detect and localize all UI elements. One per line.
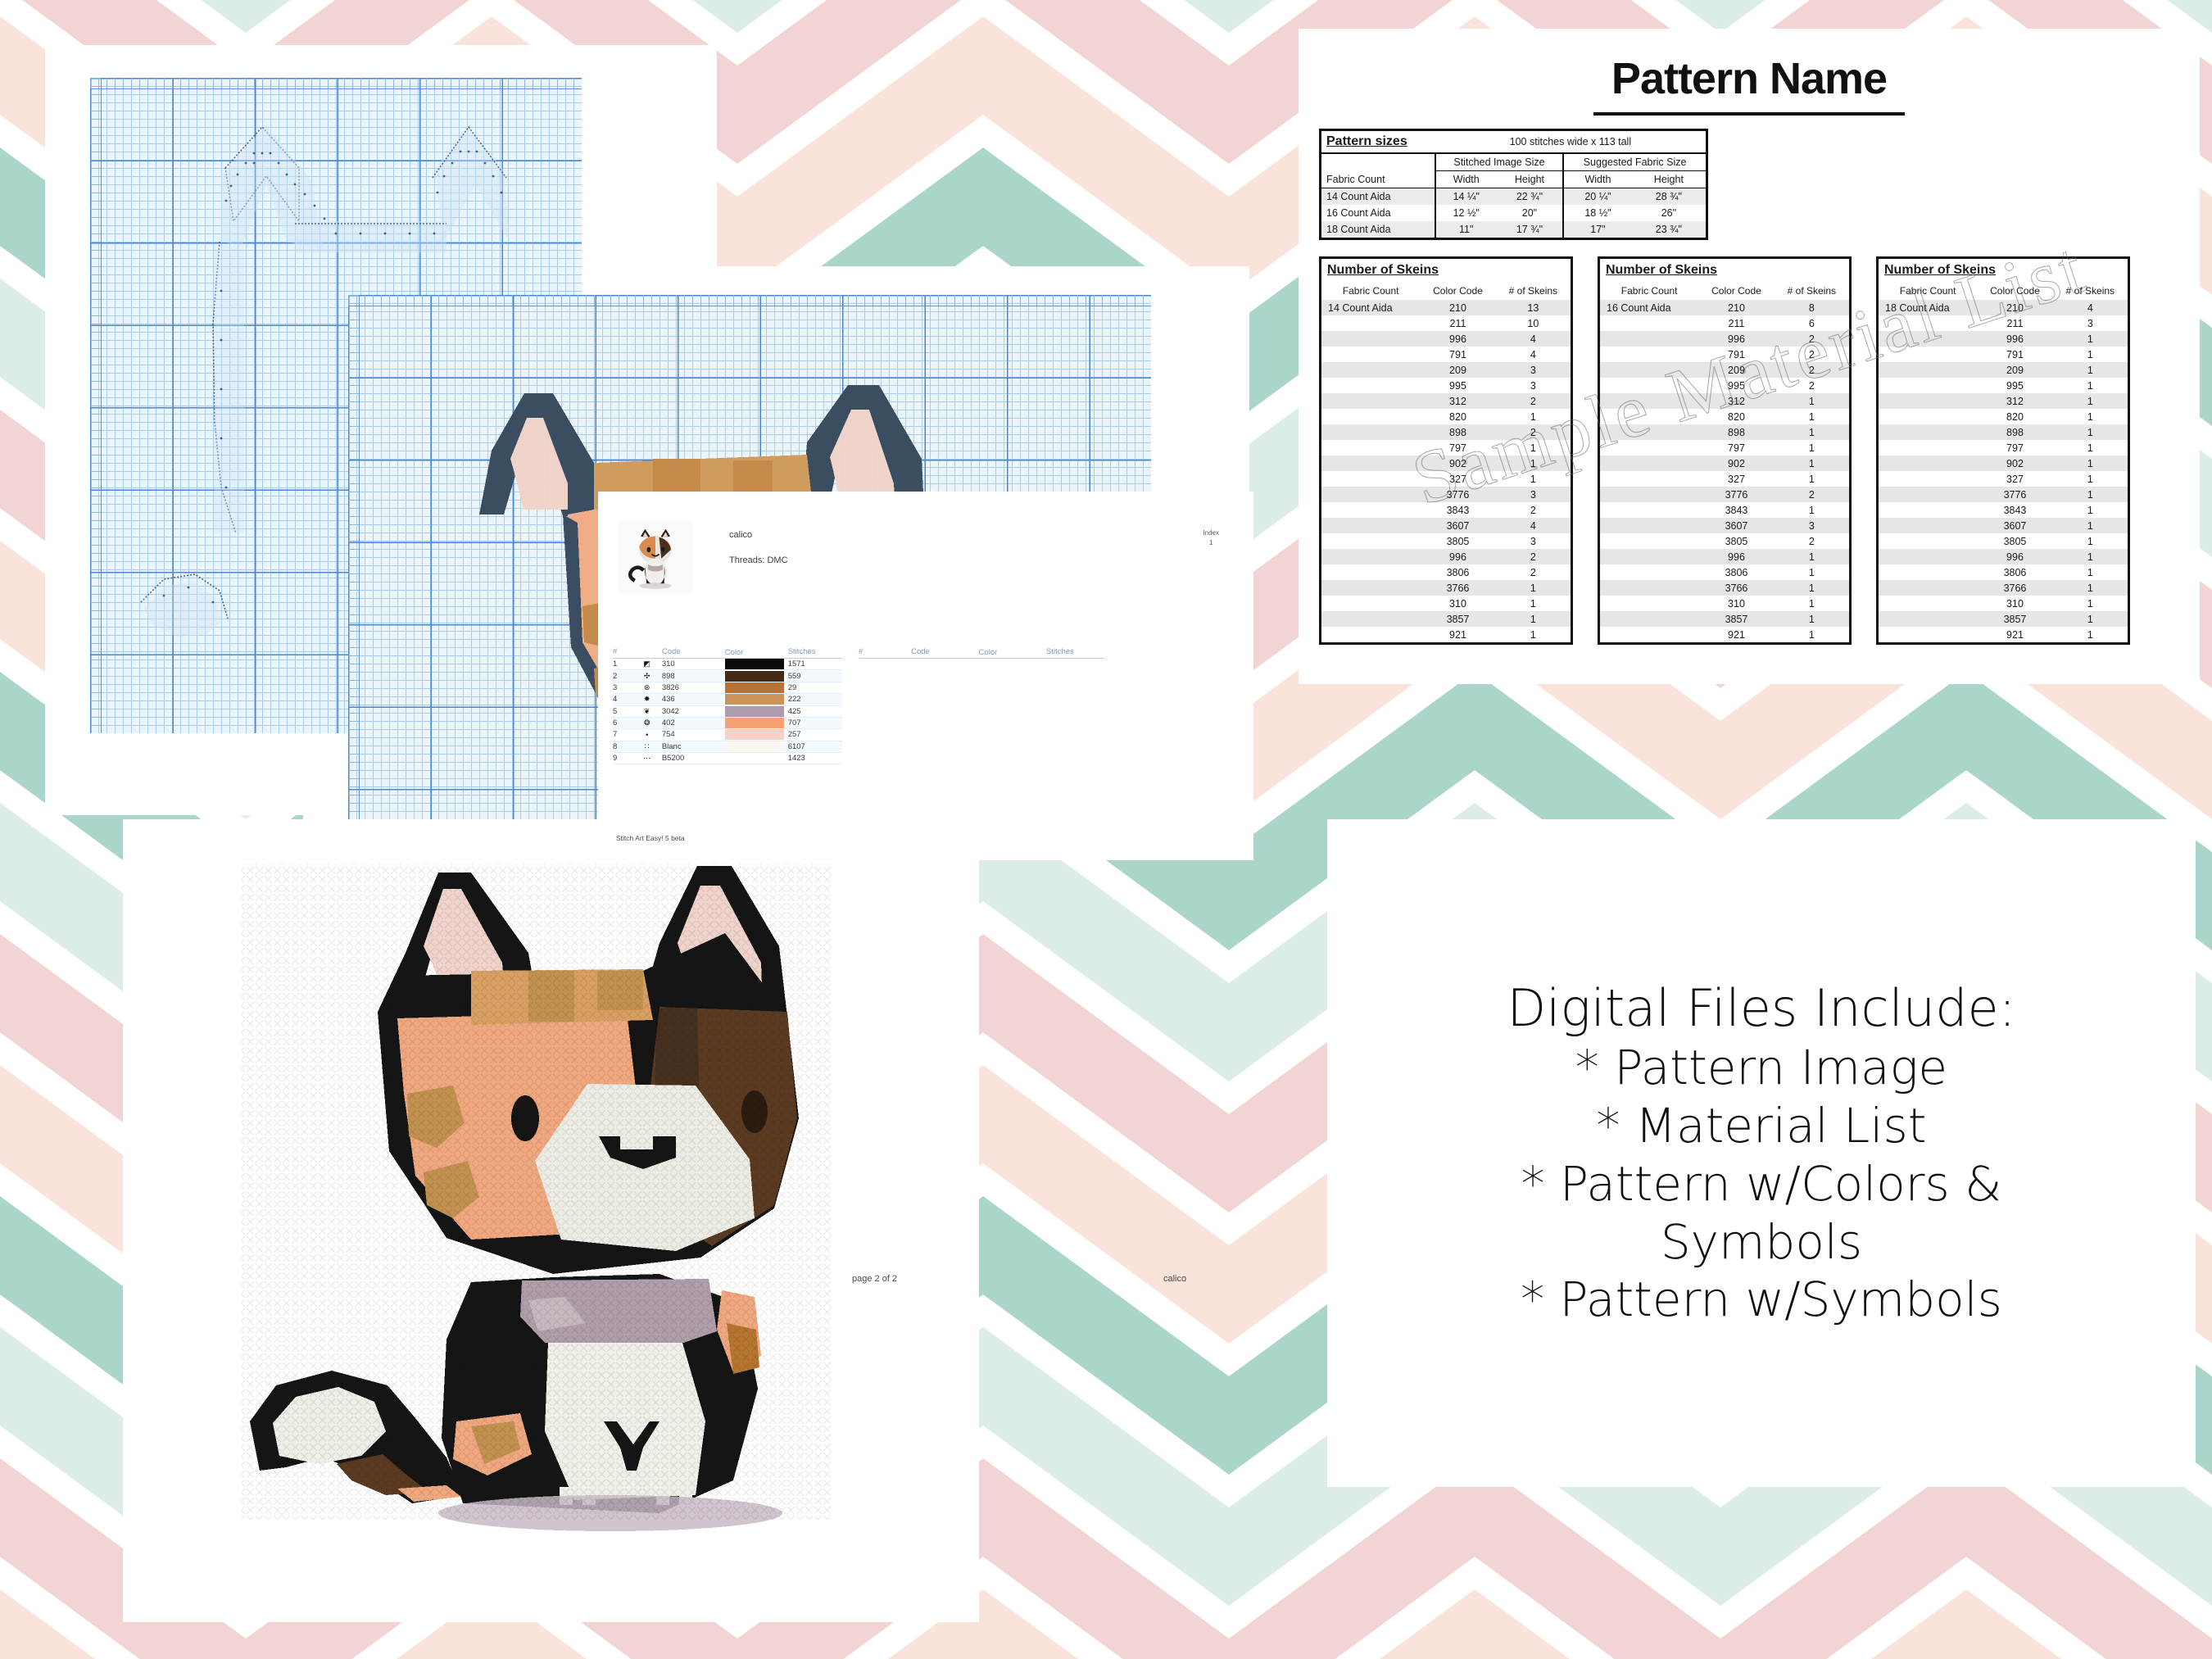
skein-count: 1 bbox=[2053, 440, 2129, 456]
skein-row: 8201 bbox=[1599, 409, 1851, 424]
skein-fabric-count bbox=[1321, 409, 1421, 424]
legend-row-stitches: 425 bbox=[788, 705, 842, 717]
software-footer: Stitch Art Easy! 5 beta bbox=[616, 834, 685, 842]
thread-legend-table: # Code Color Stitches 1◩31015712✣8985593… bbox=[613, 647, 842, 764]
skein-count: 1 bbox=[2053, 627, 2129, 644]
ps-fabric-h: 23 ¾" bbox=[1632, 221, 1707, 239]
legend-row: 6❂402707 bbox=[613, 717, 842, 728]
skein-color-code: 3806 bbox=[1420, 564, 1496, 580]
skein-count: 2 bbox=[1496, 502, 1572, 518]
skein-row: 3101 bbox=[1878, 596, 2129, 611]
skein-row: 38432 bbox=[1321, 502, 1572, 518]
skein-fabric-count bbox=[1599, 518, 1699, 533]
skein-fabric-count bbox=[1599, 471, 1699, 487]
legend-row-color-swatch bbox=[725, 694, 788, 705]
skein-row: 7971 bbox=[1321, 440, 1572, 456]
skein-row: 7971 bbox=[1878, 440, 2129, 456]
skein-row: 9951 bbox=[1878, 378, 2129, 393]
col-stitched-width: Width bbox=[1435, 171, 1497, 188]
skein-color-code: 3607 bbox=[1698, 518, 1775, 533]
skein-row: 37661 bbox=[1878, 580, 2129, 596]
legend-row-symbol-icon: ◩ bbox=[632, 659, 662, 670]
legend-index-value: 1 bbox=[1203, 538, 1219, 548]
skein-fabric-count: 16 Count Aida bbox=[1599, 300, 1699, 315]
skein-14-col-fabric: Fabric Count bbox=[1321, 282, 1421, 300]
skein-fabric-count bbox=[1599, 456, 1699, 471]
skein-color-code: 312 bbox=[1698, 393, 1775, 409]
legend-col-num: # bbox=[613, 647, 632, 659]
skein-count: 1 bbox=[2053, 596, 2129, 611]
skein-fabric-count bbox=[1878, 580, 1978, 596]
legend-row-symbol-icon: ∷ bbox=[632, 741, 662, 752]
col-fabric-height: Height bbox=[1632, 171, 1707, 188]
skein-row: 9021 bbox=[1878, 456, 2129, 471]
skein-row: 9021 bbox=[1599, 456, 1851, 471]
skein-fabric-count bbox=[1321, 315, 1421, 331]
skein-fabric-count bbox=[1878, 611, 1978, 627]
skein-count: 1 bbox=[2053, 424, 2129, 440]
skein-count: 2 bbox=[1775, 533, 1851, 549]
skein-count: 1 bbox=[1496, 627, 1572, 644]
legend-row: 7•754257 bbox=[613, 729, 842, 741]
skein-fabric-count bbox=[1878, 331, 1978, 347]
skein-row: 38061 bbox=[1599, 564, 1851, 580]
skein-count: 2 bbox=[1775, 378, 1851, 393]
skein-14-heading: Number of Skeins bbox=[1321, 258, 1572, 283]
legend-row-num: 8 bbox=[613, 741, 632, 752]
legend-row-code: B5200 bbox=[662, 753, 725, 764]
skein-color-code: 3857 bbox=[1420, 611, 1496, 627]
skein-row: 38052 bbox=[1599, 533, 1851, 549]
skein-row: 9961 bbox=[1878, 549, 2129, 564]
skein-fabric-count bbox=[1321, 502, 1421, 518]
skein-row: 16 Count Aida2108 bbox=[1599, 300, 1851, 315]
skein-row: 7912 bbox=[1599, 347, 1851, 362]
skein-count: 1 bbox=[2053, 580, 2129, 596]
thread-legend-page: calico Threads: DMC Index 1 # Code Color… bbox=[598, 492, 1253, 860]
ps-fabric-h: 26" bbox=[1632, 205, 1707, 221]
skein-fabric-count bbox=[1321, 378, 1421, 393]
skein-fabric-count bbox=[1878, 456, 1978, 471]
legend-row: 3⊛382629 bbox=[613, 682, 842, 693]
skein-color-code: 210 bbox=[1698, 300, 1775, 315]
skein-fabric-count bbox=[1599, 549, 1699, 564]
skein-count: 1 bbox=[2053, 331, 2129, 347]
legend-row-color-swatch bbox=[725, 705, 788, 717]
legend-row-stitches: 1423 bbox=[788, 753, 842, 764]
skein-fabric-count bbox=[1321, 440, 1421, 456]
skein-color-code: 996 bbox=[1698, 549, 1775, 564]
pattern-sizes-table: Pattern sizes 100 stitches wide x 113 ta… bbox=[1319, 129, 1708, 240]
legend-row-code: 898 bbox=[662, 670, 725, 682]
legend-row-color-swatch bbox=[725, 682, 788, 693]
skein-color-code: 209 bbox=[1977, 362, 2053, 378]
ps-fabric-w: 20 ¼" bbox=[1563, 188, 1632, 206]
ps-fabric: 16 Count Aida bbox=[1321, 205, 1435, 221]
skein-fabric-count bbox=[1878, 347, 1978, 362]
legend-row: 5❦3042425 bbox=[613, 705, 842, 717]
legend-row-color-swatch bbox=[725, 729, 788, 741]
skein-color-code: 3805 bbox=[1698, 533, 1775, 549]
skein-fabric-count bbox=[1599, 393, 1699, 409]
digital-files-item-0: * Pattern Image bbox=[1575, 1039, 1947, 1097]
skein-count: 6 bbox=[1775, 315, 1851, 331]
skein-count: 8 bbox=[1775, 300, 1851, 315]
skein-color-code: 898 bbox=[1420, 424, 1496, 440]
skein-row: 8982 bbox=[1321, 424, 1572, 440]
skein-row: 7911 bbox=[1878, 347, 2129, 362]
skein-color-code: 996 bbox=[1977, 549, 2053, 564]
skein-count: 1 bbox=[1496, 409, 1572, 424]
skein-color-code: 3843 bbox=[1977, 502, 2053, 518]
skein-fabric-count bbox=[1878, 440, 1978, 456]
legend-row-symbol-icon: ✣ bbox=[632, 670, 662, 682]
pattern-image-page bbox=[123, 819, 979, 1622]
legend-row-num: 2 bbox=[613, 670, 632, 682]
skein-count: 1 bbox=[2053, 549, 2129, 564]
skein-color-code: 3776 bbox=[1977, 487, 2053, 502]
ps-fabric-h: 28 ¾" bbox=[1632, 188, 1707, 206]
skein-row: 7914 bbox=[1321, 347, 1572, 362]
skein-color-code: 3857 bbox=[1977, 611, 2053, 627]
skein-16-col-fabric: Fabric Count bbox=[1599, 282, 1699, 300]
skein-count: 4 bbox=[1496, 518, 1572, 533]
skein-fabric-count bbox=[1321, 611, 1421, 627]
skein-row: 38053 bbox=[1321, 533, 1572, 549]
ps-fabric: 18 Count Aida bbox=[1321, 221, 1435, 239]
legend-row-code: 3042 bbox=[662, 705, 725, 717]
skein-count: 1 bbox=[1775, 424, 1851, 440]
legend-row: 1◩3101571 bbox=[613, 659, 842, 670]
pattern-sizes-row: 18 Count Aida11"17 ¾"17"23 ¾" bbox=[1321, 221, 1707, 239]
skein-color-code: 210 bbox=[1977, 300, 2053, 315]
skein-count: 2 bbox=[1775, 487, 1851, 502]
legend-row-num: 4 bbox=[613, 694, 632, 705]
skein-16-col-code: Color Code bbox=[1698, 282, 1775, 300]
skein-color-code: 211 bbox=[1420, 315, 1496, 331]
skein-16-col-skeins: # of Skeins bbox=[1775, 282, 1851, 300]
skein-color-code: 327 bbox=[1698, 471, 1775, 487]
skein-fabric-count bbox=[1599, 378, 1699, 393]
pattern-thumbnail bbox=[619, 520, 692, 594]
skein-fabric-count bbox=[1878, 409, 1978, 424]
skein-color-code: 3766 bbox=[1420, 580, 1496, 596]
skein-row: 3271 bbox=[1321, 471, 1572, 487]
pattern-name-footer: calico bbox=[1163, 1274, 1186, 1608]
digital-files-item-2: * Pattern w/Colors & bbox=[1521, 1155, 2002, 1213]
skein-fabric-count bbox=[1878, 596, 1978, 611]
legend-row-symbol-icon: ⋯ bbox=[632, 753, 662, 764]
ps-stitched-h: 20" bbox=[1497, 205, 1563, 221]
legend-row-color-swatch bbox=[725, 753, 788, 764]
skein-row: 38571 bbox=[1599, 611, 1851, 627]
page-title: Pattern Name bbox=[1299, 53, 2200, 104]
skein-row: 9952 bbox=[1599, 378, 1851, 393]
group-header-stitched: Stitched Image Size bbox=[1435, 153, 1563, 171]
skein-row: 3121 bbox=[1878, 393, 2129, 409]
skein-count: 1 bbox=[2053, 471, 2129, 487]
skein-color-code: 902 bbox=[1698, 456, 1775, 471]
skein-fabric-count bbox=[1599, 564, 1699, 580]
skein-fabric-count bbox=[1878, 393, 1978, 409]
skein-fabric-count bbox=[1599, 315, 1699, 331]
skein-count: 4 bbox=[1496, 331, 1572, 347]
skein-count: 3 bbox=[1496, 378, 1572, 393]
skein-fabric-count bbox=[1321, 393, 1421, 409]
skein-fabric-count bbox=[1321, 471, 1421, 487]
legend-row: 8∷Blanc6107 bbox=[613, 741, 842, 752]
skein-fabric-count bbox=[1599, 533, 1699, 549]
legend-row-stitches: 6107 bbox=[788, 741, 842, 752]
skein-color-code: 791 bbox=[1977, 347, 2053, 362]
legend-index: Index 1 bbox=[1203, 528, 1219, 548]
skein-16-heading: Number of Skeins bbox=[1599, 258, 1851, 283]
skein-count: 2 bbox=[1775, 362, 1851, 378]
ps-fabric: 14 Count Aida bbox=[1321, 188, 1435, 206]
pattern-sizes-column-row: Fabric Count Width Height Width Height bbox=[1321, 171, 1707, 188]
skein-row: 9964 bbox=[1321, 331, 1572, 347]
skein-row: 9961 bbox=[1599, 549, 1851, 564]
legend-row-code: Blanc bbox=[662, 741, 725, 752]
skein-fabric-count bbox=[1599, 502, 1699, 518]
skein-count: 10 bbox=[1496, 315, 1572, 331]
pattern-sizes-heading: Pattern sizes bbox=[1321, 130, 1435, 154]
skein-count: 1 bbox=[1775, 471, 1851, 487]
skein-fabric-count bbox=[1878, 533, 1978, 549]
skein-color-code: 797 bbox=[1977, 440, 2053, 456]
legend-row-symbol-icon: ⊛ bbox=[632, 682, 662, 693]
skein-count: 1 bbox=[1775, 409, 1851, 424]
skein-color-code: 3776 bbox=[1698, 487, 1775, 502]
skein-row: 2116 bbox=[1599, 315, 1851, 331]
legend-col-symbol bbox=[632, 647, 662, 659]
legend-row-stitches: 222 bbox=[788, 694, 842, 705]
skein-count: 13 bbox=[1496, 300, 1572, 315]
skein-count: 3 bbox=[1775, 518, 1851, 533]
ps-stitched-h: 17 ¾" bbox=[1497, 221, 1563, 239]
ps-stitched-h: 22 ¾" bbox=[1497, 188, 1563, 206]
skein-fabric-count bbox=[1878, 502, 1978, 518]
skein-color-code: 797 bbox=[1698, 440, 1775, 456]
skein-fabric-count bbox=[1321, 533, 1421, 549]
skein-color-code: 3843 bbox=[1698, 502, 1775, 518]
group-header-fabric: Suggested Fabric Size bbox=[1563, 153, 1707, 171]
skein-row: 21110 bbox=[1321, 315, 1572, 331]
skein-fabric-count bbox=[1599, 347, 1699, 362]
skein-row: 3271 bbox=[1878, 471, 2129, 487]
skein-row: 14 Count Aida21013 bbox=[1321, 300, 1572, 315]
skein-row: 9962 bbox=[1599, 331, 1851, 347]
skein-fabric-count bbox=[1321, 487, 1421, 502]
skein-color-code: 921 bbox=[1977, 627, 2053, 644]
skein-fabric-count bbox=[1321, 347, 1421, 362]
skein-row: 8201 bbox=[1878, 409, 2129, 424]
legend-row-symbol-icon: ❦ bbox=[632, 705, 662, 717]
skein-table-18-count: Number of Skeins Fabric Count Color Code… bbox=[1876, 256, 2130, 645]
skein-count: 1 bbox=[1775, 564, 1851, 580]
skein-count: 1 bbox=[1496, 611, 1572, 627]
skein-color-code: 3805 bbox=[1420, 533, 1496, 549]
col-stitched-height: Height bbox=[1497, 171, 1563, 188]
skein-row: 9961 bbox=[1878, 331, 2129, 347]
skein-color-code: 312 bbox=[1420, 393, 1496, 409]
skein-count: 1 bbox=[2053, 378, 2129, 393]
skein-count: 1 bbox=[2053, 456, 2129, 471]
skein-color-code: 310 bbox=[1698, 596, 1775, 611]
skein-row: 9211 bbox=[1321, 627, 1572, 644]
skein-color-code: 902 bbox=[1420, 456, 1496, 471]
skein-color-code: 3857 bbox=[1698, 611, 1775, 627]
legend-row-color-swatch bbox=[725, 741, 788, 752]
skein-color-code: 996 bbox=[1420, 331, 1496, 347]
skein-fabric-count bbox=[1321, 518, 1421, 533]
legend-row-num: 1 bbox=[613, 659, 632, 670]
ps-fabric-w: 18 ½" bbox=[1563, 205, 1632, 221]
pattern-sizes-dimensions: 100 stitches wide x 113 tall bbox=[1435, 130, 1707, 154]
skein-14-col-code: Color Code bbox=[1420, 282, 1496, 300]
skein-row: 2093 bbox=[1321, 362, 1572, 378]
legend-col-color: Color bbox=[725, 647, 788, 659]
skein-count: 1 bbox=[2053, 502, 2129, 518]
legend-row-stitches: 1571 bbox=[788, 659, 842, 670]
skein-fabric-count bbox=[1878, 315, 1978, 331]
skein-color-code: 995 bbox=[1977, 378, 2053, 393]
skein-fabric-count bbox=[1599, 596, 1699, 611]
skein-row: 37763 bbox=[1321, 487, 1572, 502]
skein-color-code: 3806 bbox=[1698, 564, 1775, 580]
skein-row: 9962 bbox=[1321, 549, 1572, 564]
skein-count: 2 bbox=[1496, 564, 1572, 580]
skein-color-code: 209 bbox=[1698, 362, 1775, 378]
skein-count: 2 bbox=[1496, 549, 1572, 564]
skein-color-code: 902 bbox=[1977, 456, 2053, 471]
skein-count: 3 bbox=[1496, 533, 1572, 549]
skein-color-code: 791 bbox=[1698, 347, 1775, 362]
skein-row: 36073 bbox=[1599, 518, 1851, 533]
skein-count: 2 bbox=[1775, 331, 1851, 347]
skein-fabric-count bbox=[1878, 424, 1978, 440]
skein-color-code: 820 bbox=[1698, 409, 1775, 424]
legend-row-symbol-icon: ❂ bbox=[632, 717, 662, 728]
skein-color-code: 995 bbox=[1420, 378, 1496, 393]
skein-count: 1 bbox=[1775, 627, 1851, 644]
skein-color-code: 3766 bbox=[1698, 580, 1775, 596]
skein-row: 8981 bbox=[1878, 424, 2129, 440]
skein-color-code: 898 bbox=[1698, 424, 1775, 440]
skein-row: 18 Count Aida2104 bbox=[1878, 300, 2129, 315]
skein-row: 38431 bbox=[1878, 502, 2129, 518]
legend-row-num: 6 bbox=[613, 717, 632, 728]
digital-files-item-3: Symbols bbox=[1661, 1213, 1862, 1271]
legend-row-stitches: 559 bbox=[788, 670, 842, 682]
skein-count: 1 bbox=[1775, 549, 1851, 564]
legend-row-code: 754 bbox=[662, 729, 725, 741]
skein-row: 8981 bbox=[1599, 424, 1851, 440]
skein-row: 37761 bbox=[1878, 487, 2129, 502]
ps-stitched-w: 11" bbox=[1435, 221, 1497, 239]
skein-fabric-count bbox=[1878, 549, 1978, 564]
skein-count: 1 bbox=[2053, 347, 2129, 362]
skein-count: 2 bbox=[1496, 393, 1572, 409]
skein-count: 1 bbox=[1496, 596, 1572, 611]
legend-index-label: Index bbox=[1203, 528, 1219, 538]
ps-stitched-w: 14 ¼" bbox=[1435, 188, 1497, 206]
legend-row: 9⋯B52001423 bbox=[613, 753, 842, 764]
skein-color-code: 3843 bbox=[1420, 502, 1496, 518]
skein-color-code: 921 bbox=[1420, 627, 1496, 644]
skein-count: 1 bbox=[2053, 487, 2129, 502]
ps-fabric-w: 17" bbox=[1563, 221, 1632, 239]
skein-count: 3 bbox=[1496, 362, 1572, 378]
skein-color-code: 996 bbox=[1420, 549, 1496, 564]
legend-row-symbol-icon: ✸ bbox=[632, 694, 662, 705]
col-fabric-count: Fabric Count bbox=[1321, 171, 1435, 188]
legend-row-stitches: 29 bbox=[788, 682, 842, 693]
skein-row: 36074 bbox=[1321, 518, 1572, 533]
legend-row-stitches: 257 bbox=[788, 729, 842, 741]
digital-files-list: Digital Files Include: * Pattern Image *… bbox=[1327, 819, 2196, 1487]
skein-fabric-count bbox=[1599, 409, 1699, 424]
skein-color-code: 996 bbox=[1977, 331, 2053, 347]
skein-color-code: 327 bbox=[1977, 471, 2053, 487]
skein-color-code: 310 bbox=[1420, 596, 1496, 611]
skein-fabric-count bbox=[1321, 627, 1421, 644]
legend-header-row-2: # Code Color Stitches bbox=[859, 647, 1104, 659]
skein-18-col-skeins: # of Skeins bbox=[2053, 282, 2129, 300]
skein-color-code: 310 bbox=[1977, 596, 2053, 611]
skein-fabric-count bbox=[1321, 580, 1421, 596]
pattern-sizes-row: 16 Count Aida12 ½"20"18 ½"26" bbox=[1321, 205, 1707, 221]
skein-count: 1 bbox=[1775, 596, 1851, 611]
skein-count: 1 bbox=[1775, 580, 1851, 596]
legend-row: 4✸436222 bbox=[613, 694, 842, 705]
thread-legend-table-secondary: # Code Color Stitches bbox=[859, 647, 1104, 659]
skein-color-code: 898 bbox=[1977, 424, 2053, 440]
legend2-col-num: # bbox=[859, 647, 879, 659]
skein-color-code: 312 bbox=[1977, 393, 2053, 409]
skein-fabric-count bbox=[1878, 518, 1978, 533]
legend-row-color-swatch bbox=[725, 670, 788, 682]
skein-fabric-count bbox=[1599, 611, 1699, 627]
skein-fabric-count bbox=[1878, 564, 1978, 580]
skein-count: 1 bbox=[2053, 393, 2129, 409]
skein-count: 1 bbox=[2053, 611, 2129, 627]
skein-fabric-count: 18 Count Aida bbox=[1878, 300, 1978, 315]
skein-fabric-count bbox=[1321, 362, 1421, 378]
material-list-content: Pattern Name Pattern sizes 100 stitches … bbox=[1299, 29, 2200, 684]
skein-color-code: 995 bbox=[1698, 378, 1775, 393]
pattern-sizes-group-row: Stitched Image Size Suggested Fabric Siz… bbox=[1321, 153, 1707, 171]
skein-count: 1 bbox=[2053, 533, 2129, 549]
skein-row: 38431 bbox=[1599, 502, 1851, 518]
skein-count: 1 bbox=[1496, 580, 1572, 596]
title-underline bbox=[1593, 112, 1905, 116]
skein-color-code: 3806 bbox=[1977, 564, 2053, 580]
skein-count: 1 bbox=[2053, 564, 2129, 580]
calico-cat-pattern-image bbox=[201, 848, 873, 1544]
skein-row: 9211 bbox=[1878, 627, 2129, 644]
skein-color-code: 209 bbox=[1420, 362, 1496, 378]
legend-row-stitches: 707 bbox=[788, 717, 842, 728]
skein-row: 3101 bbox=[1599, 596, 1851, 611]
skein-fabric-count bbox=[1321, 564, 1421, 580]
skein-row: 3101 bbox=[1321, 596, 1572, 611]
legend-row-code: 402 bbox=[662, 717, 725, 728]
skein-table-14-count: Number of Skeins Fabric Count Color Code… bbox=[1319, 256, 1573, 645]
skein-color-code: 211 bbox=[1698, 315, 1775, 331]
legend-pattern-title: calico bbox=[729, 530, 752, 540]
legend-col-stitches: Stitches bbox=[788, 647, 842, 659]
